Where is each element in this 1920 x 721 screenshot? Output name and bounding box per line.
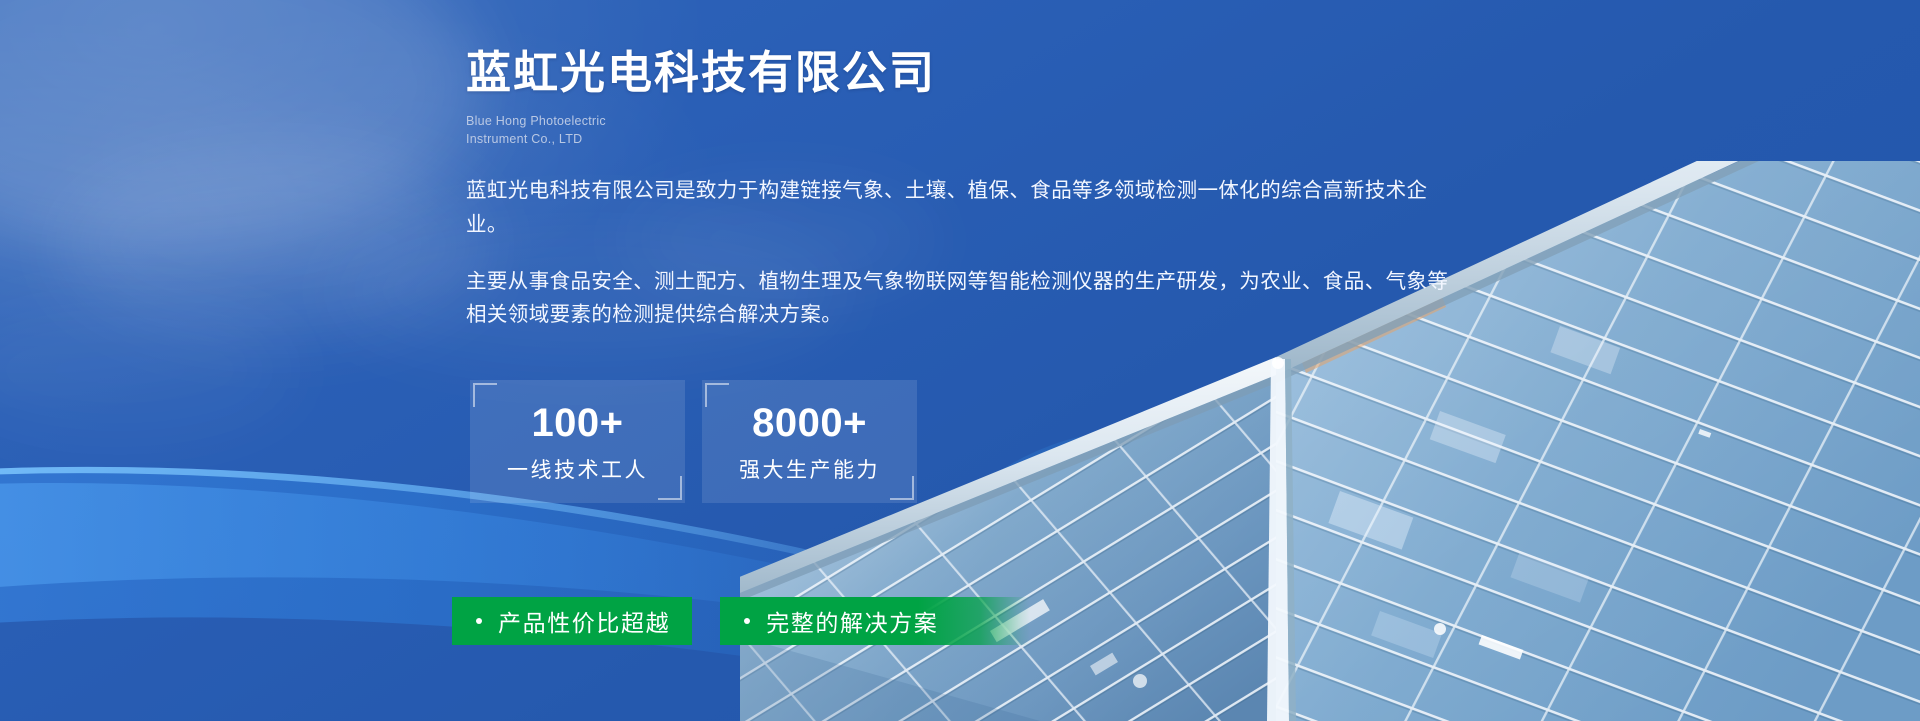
description-paragraph-1: 蓝虹光电科技有限公司是致力于构建链接气象、土壤、植保、食品等多领域检测一体化的综… (466, 174, 1451, 240)
stat-label: 强大生产能力 (739, 460, 880, 481)
corner-bracket-icon (473, 383, 497, 407)
company-english-name-line1: Blue Hong Photoelectric (466, 112, 1476, 130)
company-hero-banner: 蓝虹光电科技有限公司 Blue Hong Photoelectric Instr… (0, 0, 1920, 721)
cloud-decoration (0, 0, 480, 250)
feature-tags-group: 产品性价比超越 完整的解决方案 (452, 597, 1030, 645)
cloud-decoration (0, 300, 300, 440)
stat-value: 100+ (531, 403, 623, 443)
description-paragraph-2: 主要从事食品安全、测土配方、植物生理及气象物联网等智能检测仪器的生产研发，为农业… (466, 265, 1451, 331)
stat-label: 一线技术工人 (507, 460, 648, 481)
company-english-name-line2: Instrument Co., LTD (466, 130, 1476, 148)
banner-text-content: 蓝虹光电科技有限公司 Blue Hong Photoelectric Instr… (466, 0, 1476, 331)
bullet-dot-icon (476, 618, 482, 624)
company-english-name: Blue Hong Photoelectric Instrument Co., … (466, 112, 1476, 148)
feature-tag-label: 产品性价比超越 (498, 604, 670, 638)
cloud-decoration (60, 150, 490, 340)
feature-tag-value: 产品性价比超越 (452, 597, 692, 645)
corner-bracket-icon (890, 476, 914, 500)
feature-tag-solution: 完整的解决方案 (720, 597, 1030, 645)
statistics-group: 100+ 一线技术工人 8000+ 强大生产能力 (470, 380, 917, 503)
corner-bracket-icon (658, 476, 682, 500)
bullet-dot-icon (744, 618, 750, 624)
page-title: 蓝虹光电科技有限公司 (466, 46, 1476, 99)
stat-card-workers: 100+ 一线技术工人 (470, 380, 685, 503)
feature-tag-label: 完整的解决方案 (766, 604, 938, 638)
corner-bracket-icon (705, 383, 729, 407)
stat-card-capacity: 8000+ 强大生产能力 (702, 380, 917, 503)
stat-value: 8000+ (752, 403, 867, 443)
